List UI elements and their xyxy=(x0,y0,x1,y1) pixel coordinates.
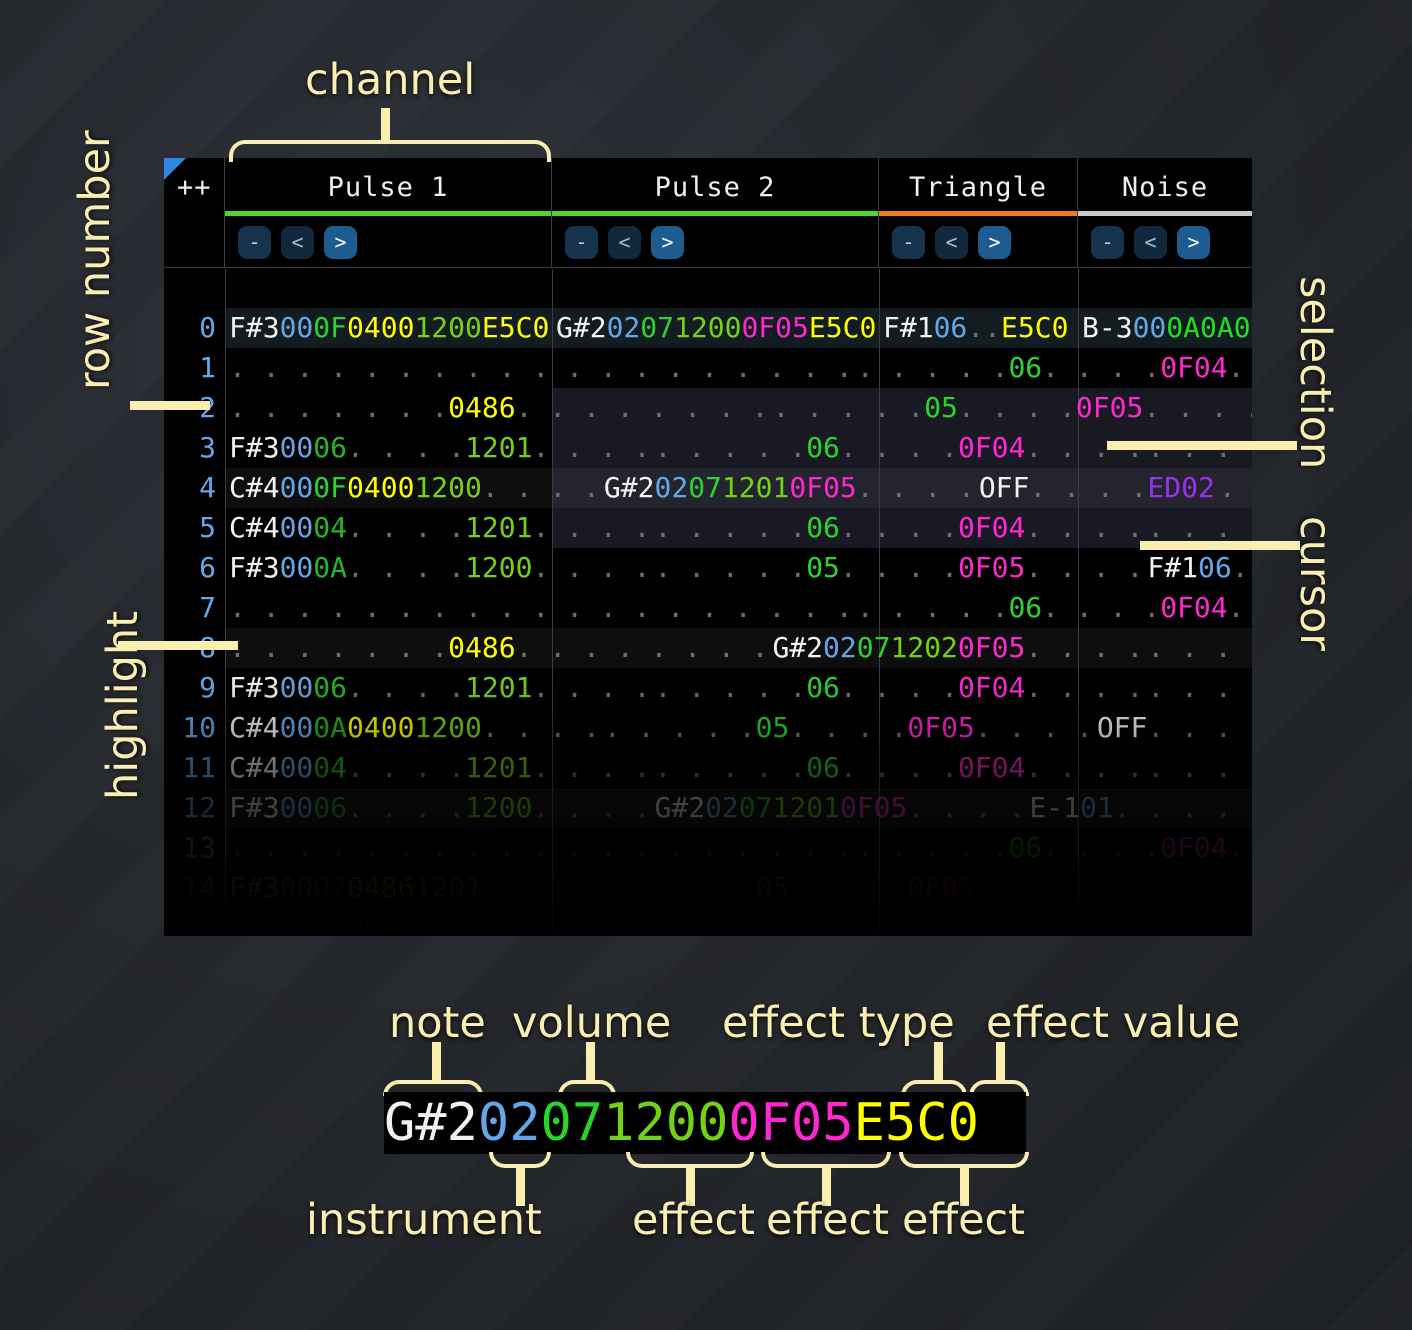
pattern-token: 12 xyxy=(890,628,924,668)
pattern-token: . . . . xyxy=(532,748,650,788)
pattern-token: G#2 xyxy=(772,628,823,668)
pattern-row[interactable]: 15C-4000C00031200. . . .. . . . .06. . .… xyxy=(164,908,1252,936)
pattern-token: . . . . xyxy=(840,748,958,788)
legend-token: 05 xyxy=(791,1092,854,1154)
leader-row-number xyxy=(130,401,210,410)
pattern-token: . . . . xyxy=(907,788,1025,828)
pattern-token: 0A xyxy=(1200,308,1234,348)
pattern-token: 12 xyxy=(674,308,708,348)
pattern-cell-pulse-1[interactable]: F#30006. . . .1201. . . . xyxy=(225,668,650,708)
pattern-token: 12 xyxy=(465,428,499,468)
channel-name-triangle: Triangle xyxy=(909,172,1047,203)
pattern-token: 05 xyxy=(941,868,975,908)
pattern-token: 0A xyxy=(313,548,347,588)
pattern-token: 02 xyxy=(1234,308,1252,348)
pattern-token: E5 xyxy=(809,308,843,348)
pattern-token: 06 xyxy=(313,668,347,708)
pattern-token: . . . . . . . . . xyxy=(1147,908,1252,936)
pattern-cell-pulse-2[interactable]: . . . . .05. . . .0F05. . . . xyxy=(600,708,1093,748)
pattern-cell-noise[interactable]: . . . . . . . . . . . . . . xyxy=(1215,468,1252,508)
leader-effect-value xyxy=(996,1042,1005,1084)
pattern-token: . . . . xyxy=(789,708,907,748)
pattern-token: 06 xyxy=(756,908,790,936)
pattern-token: . . . . . xyxy=(857,588,1009,628)
row-number-10: 10 xyxy=(164,708,225,748)
leader-highlight xyxy=(118,641,238,650)
pattern-token: 01 xyxy=(806,788,840,828)
legend-token: E5 xyxy=(854,1092,917,1154)
pattern-token: 00 xyxy=(347,908,381,936)
pattern-cell-triangle[interactable]: E-101. . . . . . . xyxy=(1025,788,1252,828)
pattern-token: 06 xyxy=(806,748,840,788)
pattern-token: 04 xyxy=(992,428,1026,468)
pattern-token: 02 xyxy=(607,308,641,348)
row-number-12: 12 xyxy=(164,788,225,828)
pattern-cell-pulse-2[interactable]: . . . . .06. . . .0F04. . . . xyxy=(650,748,1143,788)
pattern-token: 0C xyxy=(313,908,347,936)
pattern-token: C0 xyxy=(1035,308,1069,348)
legend-token: 12 xyxy=(603,1092,666,1154)
pattern-token: 00 xyxy=(499,788,533,828)
pattern-token: . . . . xyxy=(840,668,958,708)
pattern-row[interactable]: 5C#40004. . . .1201. . . .. . . . .06. .… xyxy=(164,508,1252,548)
next-button-noise[interactable]: > xyxy=(1177,226,1210,259)
pattern-token: . . . . . . . xyxy=(1232,548,1252,588)
pattern-token: B-3 xyxy=(1082,308,1133,348)
pattern-token: . . . . xyxy=(347,748,465,788)
pattern-token: C-4 xyxy=(229,908,280,936)
pattern-cell-pulse-2[interactable]: . . . . .06. . . .0F04. . . . xyxy=(600,908,1093,936)
leader-volume xyxy=(586,1042,595,1084)
channel-header-pulse-1[interactable]: Pulse 1 xyxy=(225,158,552,216)
pattern-token: 0F xyxy=(907,868,941,908)
row-number-14: 14 xyxy=(164,868,225,908)
pattern-token: 02 xyxy=(313,868,347,908)
pattern-token: 00 xyxy=(280,508,314,548)
pattern-token: 00 xyxy=(381,708,415,748)
pattern-token: 00 xyxy=(448,468,482,508)
annotation-row-number: row number xyxy=(70,130,120,390)
pattern-token: 00 xyxy=(280,908,314,936)
pattern-token: 06 xyxy=(1198,548,1232,588)
prev-button-noise[interactable]: < xyxy=(1134,226,1167,259)
pattern-token: 02 xyxy=(823,628,857,668)
pattern-cell-pulse-1[interactable]: F#30006. . . .1201. . . . xyxy=(225,428,650,468)
pattern-token: . . . . xyxy=(1228,588,1252,628)
pattern-token: . . . . . . . . . . . . . . . . . . . xyxy=(229,828,853,868)
pattern-token: . . . . . . . xyxy=(229,388,448,428)
pattern-token: . . . . xyxy=(347,508,465,548)
pattern-cell-pulse-1[interactable]: . . . . . . . . . . . . . . . . . . . xyxy=(225,588,853,628)
pattern-token: . . . . xyxy=(347,548,465,588)
pattern-token: 0F xyxy=(958,428,992,468)
pattern-cell-triangle[interactable]: F#106..E5C0 xyxy=(879,308,1078,348)
pattern-token: 06 xyxy=(806,508,840,548)
pattern-cell-pulse-2[interactable]: G#2020712010F05. . . . xyxy=(650,788,1025,828)
rownum-header: ++ xyxy=(164,158,225,216)
pattern-row[interactable]: 13. . . . . . . . . . . . . . . . . . ..… xyxy=(164,828,1252,868)
pattern-token: 12 xyxy=(414,868,448,908)
pattern-token: . . . . . . . . xyxy=(516,388,769,428)
pattern-token: . . . . . xyxy=(654,548,806,588)
pattern-token: . . . . xyxy=(789,868,907,908)
next-button-pulse-2[interactable]: > xyxy=(651,226,684,259)
pattern-cell-pulse-2[interactable]: . . . . .06. . . .0F04. . . . xyxy=(853,588,1252,628)
pattern-cell-pulse-1[interactable]: F#3000A. . . .1200. . . . xyxy=(225,548,650,588)
pattern-token: G#2 xyxy=(604,468,655,508)
annotation-note: note xyxy=(389,998,486,1048)
pattern-row[interactable]: 11C#40004. . . .1201. . . .. . . . .06. … xyxy=(164,748,1252,788)
pattern-token: E-1 xyxy=(1029,788,1080,828)
pattern-token: 0486 xyxy=(448,388,515,428)
row-number-9: 9 xyxy=(164,668,225,708)
pattern-token: . . . . . . . . . . . . . . . . . . . xyxy=(229,348,853,388)
pattern-token: 0F xyxy=(958,668,992,708)
pattern-cell-pulse-1[interactable]: . . . . . . .0486. . . . . . . . xyxy=(225,388,768,428)
pattern-cell-pulse-2[interactable]: . . . . .05. . . .0F05. . . . xyxy=(600,868,1093,908)
pattern-token: 05 xyxy=(756,708,790,748)
mute-button-pulse-2[interactable]: - xyxy=(565,226,598,259)
pattern-row[interactable]: 7. . . . . . . . . . . . . . . . . . .. … xyxy=(164,588,1252,628)
pattern-row[interactable]: 2. . . . . . .0486. . . . . . . .. . . .… xyxy=(164,388,1252,428)
pattern-token: C#4 xyxy=(229,508,280,548)
pattern-token: 0F xyxy=(907,708,941,748)
pattern-token: . . . . xyxy=(532,668,650,708)
pattern-token: 00 xyxy=(280,668,314,708)
pattern-token: 03 xyxy=(381,908,415,936)
pattern-cell-triangle[interactable]: . . . . . . . . . . . . xyxy=(1143,748,1252,788)
pattern-token: . . . . xyxy=(1042,588,1160,628)
pattern-cell-pulse-1[interactable]: C-4000C00031200. . . . xyxy=(225,908,600,936)
pattern-token: 02 xyxy=(924,628,958,668)
pattern-token: . . . . xyxy=(840,508,958,548)
row-number-11: 11 xyxy=(164,748,225,788)
pattern-cell-pulse-2[interactable]: . . . . .06. . . .0F04. . . . xyxy=(650,668,1143,708)
pattern-token: .. xyxy=(967,308,1001,348)
annotation-effect-type: effect type xyxy=(722,998,955,1048)
pattern-token: 05 xyxy=(941,708,975,748)
annotation-effect-1: effect xyxy=(632,1195,755,1245)
pattern-row[interactable]: 4C#4000F04001200. . . .G#2020712010F05. … xyxy=(164,468,1252,508)
pattern-token: 00 xyxy=(280,708,314,748)
pattern-token: 04 xyxy=(313,508,347,548)
pattern-token: 0F xyxy=(1160,348,1194,388)
rownum-button-spacer xyxy=(164,216,225,268)
pattern-token: . . . . xyxy=(789,908,907,936)
pattern-token: . . . . xyxy=(1228,828,1252,868)
legend-token: 0F xyxy=(728,1092,791,1154)
pattern-token: 04 xyxy=(1194,348,1228,388)
channel-header-row: ++ Pulse 1 Pulse 2 Triangle Noise xyxy=(164,158,1252,216)
pattern-cell-pulse-2[interactable]: G#2020712010F05. . . . xyxy=(600,468,975,508)
pattern-token: . . . . xyxy=(347,668,465,708)
pattern-token: 07 xyxy=(857,628,891,668)
pattern-token: . . . . xyxy=(532,788,650,828)
pattern-cell-pulse-2[interactable]: . . . . .06. . . .0F04. . . . xyxy=(650,508,1143,548)
pattern-token: 01 xyxy=(499,668,533,708)
pattern-row[interactable]: 0F#3000F04001200E5C0G#2020712000F05E5C0F… xyxy=(164,308,1252,348)
pattern-token: 04 xyxy=(941,908,975,936)
pattern-cell-pulse-1[interactable]: F#30006. . . .1200. . . . xyxy=(225,788,650,828)
pattern-cell-pulse-2[interactable]: . . . . .05. . . .0F05. . . . xyxy=(768,388,1252,428)
prev-button-triangle[interactable]: < xyxy=(935,226,968,259)
pattern-token: 0F xyxy=(1160,588,1194,628)
legend-token: G#2 xyxy=(384,1092,478,1154)
channel-buttons-noise: - < > xyxy=(1078,216,1252,268)
pattern-cell-noise[interactable]: B-3000A0A02 xyxy=(1078,308,1252,348)
pattern-row[interactable]: 6F#3000A. . . .1200. . . .. . . . .05. .… xyxy=(164,548,1252,588)
pattern-token: . . . . xyxy=(958,388,1076,428)
pattern-token: . . . . . xyxy=(604,708,756,748)
next-button-triangle[interactable]: > xyxy=(978,226,1011,259)
legend-token: C0 xyxy=(916,1092,979,1154)
pattern-token: 06 xyxy=(1008,828,1042,868)
annotation-effect-2: effect xyxy=(766,1195,889,1245)
legend-pattern-cell: G#2020712000F05E5C0 xyxy=(384,1092,1026,1154)
pattern-token: 06 xyxy=(313,428,347,468)
channel-name-noise: Noise xyxy=(1122,172,1208,203)
pattern-cell-pulse-1[interactable]: F#3000F04001200E5C0 xyxy=(225,308,552,348)
pattern-cell-triangle[interactable]: . . . . . . . . . . . . xyxy=(1143,668,1252,708)
row-number-1: 1 xyxy=(164,348,225,388)
pattern-token: F#3 xyxy=(229,428,280,468)
pattern-token: F#1 xyxy=(1147,548,1198,588)
pattern-token: 01 xyxy=(756,468,790,508)
pattern-token: . . . . xyxy=(840,428,958,468)
pattern-token: . . . . . xyxy=(857,828,1009,868)
pattern-token: 00 xyxy=(381,308,415,348)
pattern-token: OFF xyxy=(1097,908,1148,936)
pattern-token: 07 xyxy=(640,308,674,348)
pattern-cell-triangle[interactable]: OFF. . . . . . . . . xyxy=(1093,908,1252,936)
pattern-cell-pulse-1[interactable]: . . . . . . . . . . . . . . . . . . . xyxy=(225,828,853,868)
pattern-token: 06 xyxy=(934,308,968,348)
pattern-cell-pulse-1[interactable]: F#3000204861201. . . . xyxy=(225,868,600,908)
pattern-token: 00 xyxy=(280,788,314,828)
pattern-token: 0F xyxy=(1160,828,1194,868)
next-button-pulse-1[interactable]: > xyxy=(324,226,357,259)
pattern-token: 0F xyxy=(958,548,992,588)
channel-buttons-pulse-2: - < > xyxy=(552,216,879,268)
pattern-token: 12 xyxy=(414,708,448,748)
channel-name-pulse-2: Pulse 2 xyxy=(655,172,776,203)
pattern-cell-pulse-2[interactable]: . . . . .05. . . .0F05. . . . xyxy=(650,548,1143,588)
pattern-token: 0F xyxy=(958,508,992,548)
channel-header-pulse-2[interactable]: Pulse 2 xyxy=(552,158,879,216)
pattern-grid[interactable]: 0F#3000F04001200E5C0G#2020712000F05E5C0F… xyxy=(164,269,1252,936)
pattern-token: 06 xyxy=(806,428,840,468)
pattern-cell-triangle[interactable]: OFF. . . .ED02 xyxy=(1093,708,1252,748)
pattern-cell-pulse-2[interactable]: G#2020712020F05. . . . xyxy=(768,628,1143,668)
legend-token: 07 xyxy=(541,1092,604,1154)
pattern-token: . . . . xyxy=(975,708,1093,748)
pattern-token: 06 xyxy=(313,788,347,828)
pattern-token: 04 xyxy=(992,508,1026,548)
pattern-token: . . . . xyxy=(1025,548,1143,588)
channel-header-triangle[interactable]: Triangle xyxy=(879,158,1078,216)
pattern-cell-triangle[interactable]: F#106. . . . . . . xyxy=(1143,548,1252,588)
pattern-token: F#3 xyxy=(229,788,280,828)
pattern-token: C0 xyxy=(516,308,550,348)
pattern-token: . . . . xyxy=(347,788,465,828)
pattern-token: 00 xyxy=(280,468,314,508)
pattern-cell-pulse-1[interactable]: . . . . . . . . . . . . . . . . . . . xyxy=(225,348,853,388)
row-number-5: 5 xyxy=(164,508,225,548)
pattern-token: 01 xyxy=(448,868,482,908)
tracker-panel: ++ Pulse 1 Pulse 2 Triangle Noise - < > … xyxy=(164,158,1252,936)
pattern-token: 06 xyxy=(1008,348,1042,388)
pattern-token: 04 xyxy=(1194,828,1228,868)
corner-marker-icon xyxy=(164,158,186,180)
pattern-token: 00 xyxy=(708,308,742,348)
mute-button-pulse-1[interactable]: - xyxy=(238,226,271,259)
pattern-token: 00 xyxy=(280,868,314,908)
leader-cursor xyxy=(1140,541,1300,550)
leader-effect-type xyxy=(934,1042,943,1084)
pattern-cell-pulse-2[interactable]: . . . . .06. . . .0F04. . . . xyxy=(853,828,1252,868)
leader-selection xyxy=(1107,441,1297,450)
pattern-token: 06 xyxy=(1008,588,1042,628)
pattern-token: 05 xyxy=(924,388,958,428)
pattern-cell-pulse-2[interactable]: G#2020712000F05E5C0 xyxy=(552,308,879,348)
pattern-token: 0486 xyxy=(347,868,414,908)
pattern-token: 00 xyxy=(1133,308,1167,348)
pattern-token: 00 xyxy=(448,908,482,936)
pattern-token: . . . . . xyxy=(604,868,756,908)
pattern-token: 05 xyxy=(823,468,857,508)
pattern-token: . . . . . . . . . . . . . . . . . . . xyxy=(229,588,853,628)
pattern-token: . . . . . . . xyxy=(229,628,448,668)
pattern-row[interactable]: 8. . . . . . .0486. . . . . . . .G#20207… xyxy=(164,628,1252,668)
pattern-rows[interactable]: 0F#3000F04001200E5C0G#2020712000F05E5C0F… xyxy=(164,308,1252,936)
pattern-token: 05 xyxy=(874,788,908,828)
pattern-token: 0A xyxy=(1166,308,1200,348)
pattern-token: G#2 xyxy=(556,308,607,348)
pattern-token: . . . . xyxy=(975,868,1093,908)
channel-header-noise[interactable]: Noise xyxy=(1078,158,1252,216)
annotation-channel: channel xyxy=(305,55,475,105)
pattern-token: OFF xyxy=(979,468,1030,508)
pattern-token: . . . . . xyxy=(857,348,1009,388)
pattern-token: ED xyxy=(1147,468,1181,508)
pattern-token: 06 xyxy=(806,668,840,708)
pattern-cell-pulse-1[interactable]: C#4000F04001200. . . . xyxy=(225,468,600,508)
pattern-cell-pulse-2[interactable]: . . . . .06. . . .0F04. . . . xyxy=(650,428,1143,468)
pattern-token: 0F xyxy=(958,628,992,668)
pattern-token: 00 xyxy=(448,308,482,348)
pattern-token: 05 xyxy=(992,628,1026,668)
pattern-token: . . . . . . . . xyxy=(516,628,769,668)
pattern-token: 05 xyxy=(756,868,790,908)
pattern-token: . . . . xyxy=(857,468,975,508)
channel-buttons-triangle: - < > xyxy=(879,216,1078,268)
pattern-token: E5 xyxy=(482,308,516,348)
pattern-token: 02 xyxy=(654,468,688,508)
pattern-token: C#4 xyxy=(229,708,280,748)
pattern-token: . . . . xyxy=(482,908,600,936)
channel-button-row: - < > - < > - < > - < > xyxy=(164,216,1252,268)
pattern-token: . . . . xyxy=(1042,828,1160,868)
pattern-token: . . . . xyxy=(1042,348,1160,388)
pattern-token: 12 xyxy=(465,548,499,588)
pattern-token: . . . . xyxy=(1147,708,1252,748)
pattern-token: . . . . . . . . . . . . xyxy=(1097,868,1252,908)
pattern-token: . . . . . xyxy=(772,388,924,428)
pattern-token: 0F xyxy=(1076,388,1110,428)
pattern-token: . . . . . . . . . . . . . . xyxy=(1219,468,1252,508)
pattern-token: 04 xyxy=(347,308,381,348)
pattern-cell-pulse-1[interactable]: C#40004. . . .1201. . . . xyxy=(225,508,650,548)
pattern-cell-triangle[interactable]: . . . . . . . . . . . . xyxy=(1093,868,1252,908)
pattern-row[interactable]: 1. . . . . . . . . . . . . . . . . . .. … xyxy=(164,348,1252,388)
pattern-token: OFF xyxy=(1097,708,1148,748)
pattern-row[interactable]: 10C#4000A04001200. . . .. . . . .05. . .… xyxy=(164,708,1252,748)
pattern-row[interactable]: 9F#30006. . . .1201. . . .. . . . .06. .… xyxy=(164,668,1252,708)
annotation-effect-3: effect xyxy=(902,1195,1025,1245)
pattern-token: . . . . xyxy=(1025,668,1143,708)
pattern-token: 00 xyxy=(448,708,482,748)
annotation-highlight: highlight xyxy=(98,611,148,800)
row-number-15: 15 xyxy=(164,908,225,936)
pattern-token: 01 xyxy=(499,748,533,788)
pattern-row[interactable]: 3F#30006. . . .1201. . . .. . . . .06. .… xyxy=(164,428,1252,468)
pattern-token: 04 xyxy=(313,748,347,788)
pattern-token: 12 xyxy=(465,668,499,708)
mute-button-triangle[interactable]: - xyxy=(892,226,925,259)
pattern-token: 00 xyxy=(280,748,314,788)
leader-note xyxy=(432,1042,441,1084)
pattern-token: 0F xyxy=(958,748,992,788)
pattern-row[interactable]: 12F#30006. . . .1200. . . .G#2020712010F… xyxy=(164,788,1252,828)
prev-button-pulse-1[interactable]: < xyxy=(281,226,314,259)
pattern-token: 0F xyxy=(313,308,347,348)
pattern-row[interactable]: 14F#3000204861201. . . .. . . . .05. . .… xyxy=(164,868,1252,908)
annotation-selection: selection xyxy=(1290,276,1340,469)
pattern-cell-pulse-1[interactable]: C#40004. . . .1201. . . . xyxy=(225,748,650,788)
pattern-token: 01 xyxy=(499,428,533,468)
legend-token: 02 xyxy=(478,1092,541,1154)
mute-button-noise[interactable]: - xyxy=(1091,226,1124,259)
pattern-token: 00 xyxy=(280,428,314,468)
annotation-effect-value: effect value xyxy=(986,998,1240,1048)
pattern-token: . . . . . . . . . . . . xyxy=(1147,628,1252,668)
pattern-token: 04 xyxy=(347,708,381,748)
pattern-token: . . . . . xyxy=(654,428,806,468)
pattern-cell-pulse-1[interactable]: C#4000A04001200. . . . xyxy=(225,708,600,748)
pattern-token: 05 xyxy=(1110,388,1144,428)
pattern-token: 0A xyxy=(313,708,347,748)
pattern-cell-triangle[interactable]: . . . . . . . . . . . . xyxy=(1143,628,1252,668)
pattern-token: C#4 xyxy=(229,468,280,508)
prev-button-pulse-2[interactable]: < xyxy=(608,226,641,259)
pattern-token: 0F xyxy=(840,788,874,828)
pattern-token: . . . . xyxy=(532,548,650,588)
row-number-4: 4 xyxy=(164,468,225,508)
pattern-cell-pulse-2[interactable]: . . . . .06. . . .0F04. . . . xyxy=(853,348,1252,388)
pattern-cell-triangle[interactable]: OFF. . . .ED02 xyxy=(975,468,1215,508)
pattern-token: 0F xyxy=(907,908,941,936)
pattern-token: F#3 xyxy=(229,668,280,708)
pattern-token: . . . . xyxy=(1025,748,1143,788)
pattern-token: . . . . . . . . . . . . xyxy=(1147,668,1252,708)
pattern-token: . . . . xyxy=(1025,628,1143,668)
pattern-cell-pulse-1[interactable]: . . . . . . .0486. . . . . . . . xyxy=(225,628,768,668)
row-number-6: 6 xyxy=(164,548,225,588)
pattern-token: 05 xyxy=(992,548,1026,588)
pattern-token: . . . . xyxy=(840,548,958,588)
pattern-token: 04 xyxy=(347,468,381,508)
annotation-instrument: instrument xyxy=(306,1195,542,1245)
